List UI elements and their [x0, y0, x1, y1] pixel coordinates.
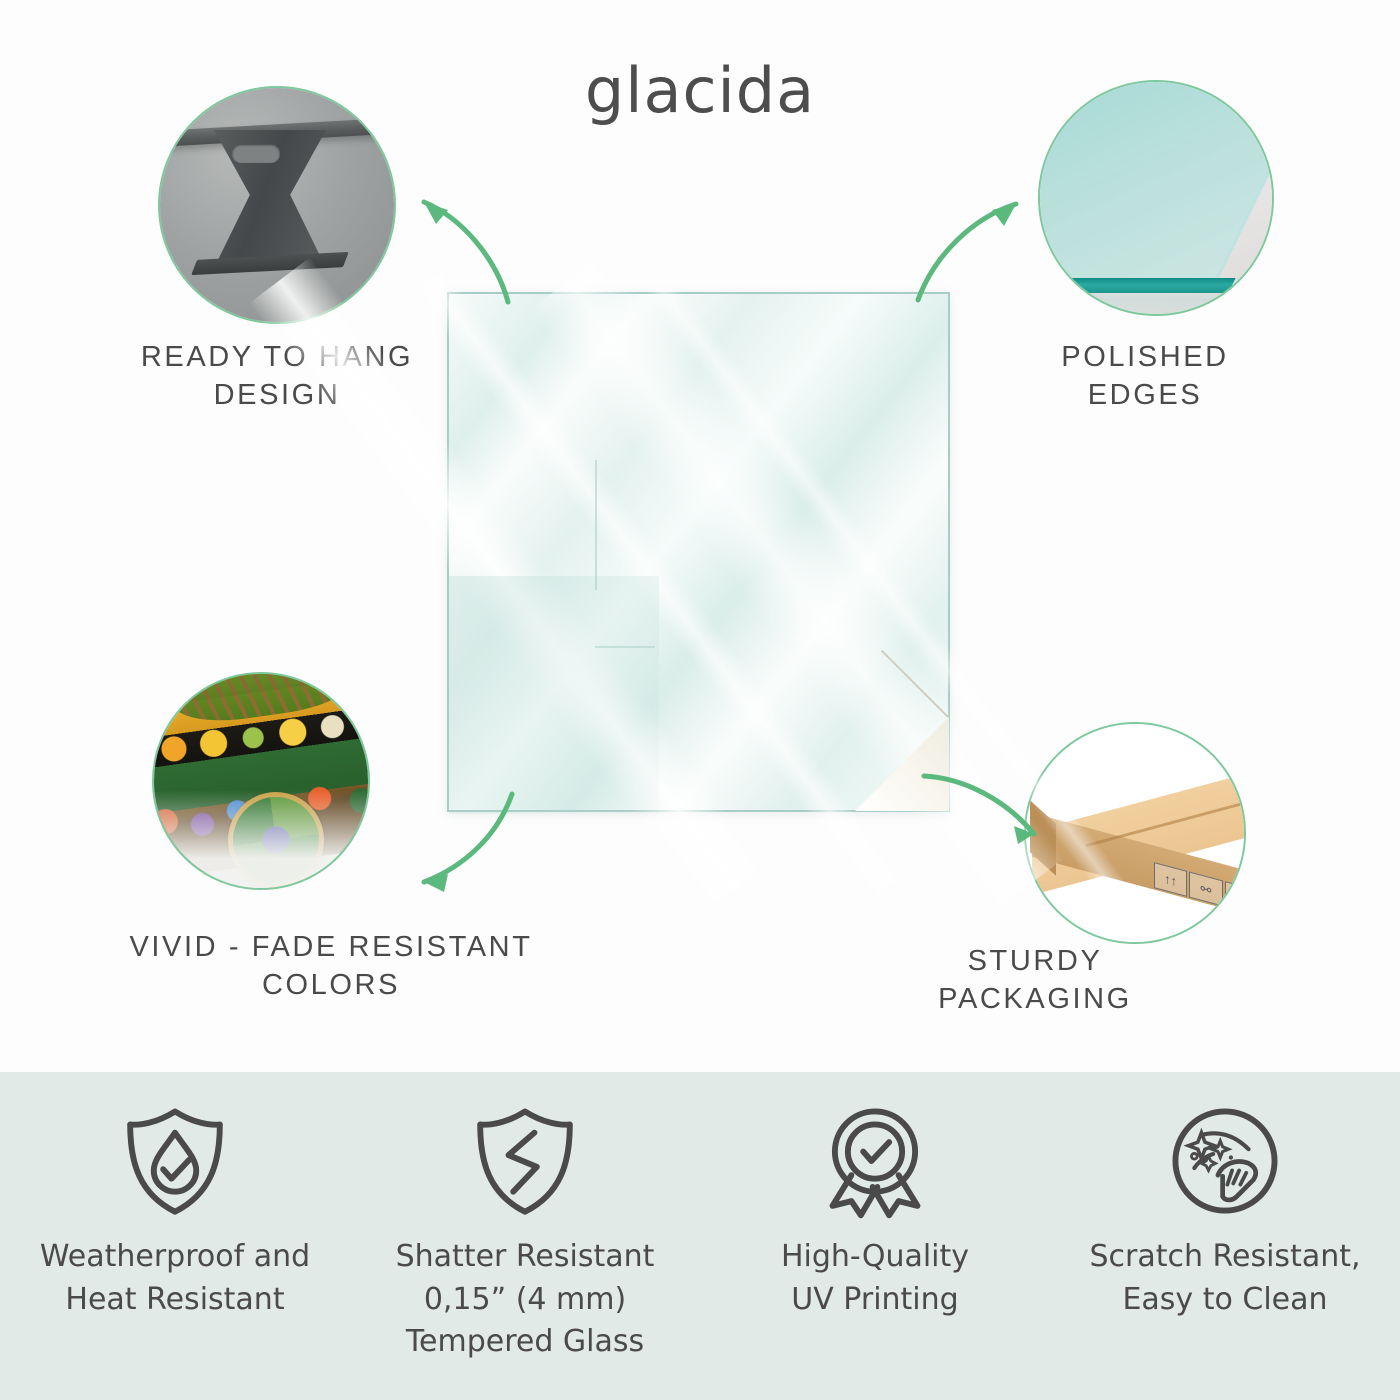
- feature-caption-vivid-colors: VIVID - FADE RESISTANT COLORS: [75, 928, 587, 1005]
- shield-crack-icon: [465, 1102, 585, 1220]
- shield-water-drop-check-icon: [115, 1102, 235, 1220]
- spec-line-1: Scratch Resistant,: [1089, 1236, 1360, 1279]
- spec-text-weatherproof: Weatherproof and Heat Resistant: [26, 1236, 324, 1321]
- polished-edge-band: [1038, 278, 1236, 293]
- feature-image-polished-edges: [1038, 80, 1274, 316]
- caption-line-2: EDGES: [975, 376, 1315, 414]
- caption-line-1: POLISHED: [975, 338, 1315, 376]
- spec-item-weatherproof: Weatherproof and Heat Resistant: [0, 1072, 350, 1400]
- spec-line-1: High-Quality: [781, 1236, 969, 1279]
- caption-line-1: VIVID - FADE RESISTANT: [75, 928, 587, 966]
- spec-line-2: Heat Resistant: [40, 1279, 310, 1322]
- spec-item-uv-printing: High-Quality UV Printing: [700, 1072, 1050, 1400]
- arrow-to-sturdy-packaging: [918, 760, 1048, 870]
- spec-line-1: Weatherproof and: [40, 1236, 310, 1279]
- spec-line-1: Shatter Resistant: [396, 1236, 655, 1279]
- feature-caption-polished-edges: POLISHED EDGES: [975, 338, 1315, 415]
- caption-line-2: COLORS: [75, 966, 587, 1004]
- glass-seam-horizontal: [595, 646, 655, 648]
- spec-line-2: Easy to Clean: [1089, 1279, 1360, 1322]
- arrow-to-vivid-colors: [400, 790, 530, 900]
- arrow-to-ready-to-hang: [400, 180, 530, 310]
- spec-line-3: Tempered Glass: [396, 1321, 655, 1364]
- arrow-to-polished-edges: [900, 180, 1040, 310]
- feature-caption-sturdy-packaging: STURDY PACKAGING: [835, 942, 1235, 1019]
- glass-edge-shadow: [1038, 294, 1274, 316]
- spec-text-shatter-resistant: Shatter Resistant 0,15” (4 mm) Tempered …: [382, 1236, 669, 1364]
- tempered-glass-panel: [447, 292, 950, 812]
- spec-line-2: UV Printing: [781, 1279, 969, 1322]
- glass-tint-patch: [449, 576, 659, 814]
- product-infographic: glacida READY TO HANG DESIGN POLISHED ED…: [0, 0, 1400, 1400]
- feature-image-vivid-colors: [152, 672, 370, 890]
- spec-item-shatter-resistant: Shatter Resistant 0,15” (4 mm) Tempered …: [350, 1072, 700, 1400]
- artwork-bottom-fade: [154, 790, 368, 888]
- spec-text-uv-printing: High-Quality UV Printing: [767, 1236, 983, 1321]
- glass-seam-vertical: [595, 460, 597, 590]
- award-ribbon-check-icon: [815, 1102, 935, 1220]
- spec-line-2: 0,15” (4 mm): [396, 1279, 655, 1322]
- sparkle-wiping-hand-icon: [1165, 1102, 1285, 1220]
- spec-item-scratch-resistant: Scratch Resistant, Easy to Clean: [1050, 1072, 1400, 1400]
- specs-panel: Weatherproof and Heat Resistant Shatter …: [0, 1072, 1400, 1400]
- caption-line-2: PACKAGING: [835, 980, 1235, 1018]
- bracket-keyhole-slot: [232, 144, 280, 163]
- caption-line-1: STURDY: [835, 942, 1235, 980]
- caption-line-1: READY TO HANG: [77, 338, 477, 376]
- spec-text-scratch-resistant: Scratch Resistant, Easy to Clean: [1075, 1236, 1374, 1321]
